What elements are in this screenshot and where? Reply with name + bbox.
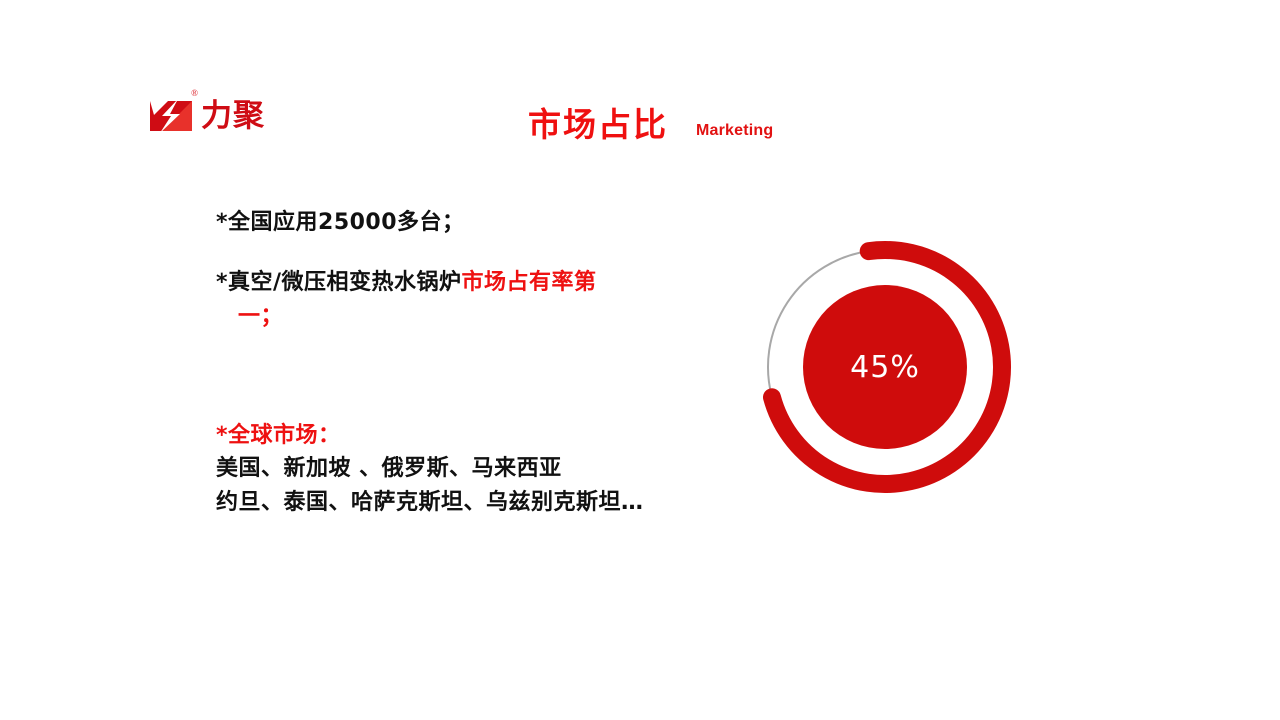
bullet-market-share-highlight: 市场占有率第 — [462, 270, 597, 295]
global-market-line-2: 约旦、泰国、哈萨克斯坦、乌兹别克斯坦… — [216, 486, 776, 520]
market-share-donut-chart: 45% — [750, 232, 1020, 502]
page-title: 市场占比 — [528, 108, 668, 143]
bullet-market-share-wrap: 一； — [216, 300, 283, 334]
registered-trademark-icon: ® — [191, 89, 198, 98]
company-logo: ® 力聚 — [148, 88, 265, 140]
bullet-list: *全国应用25000多台； *真空/微压相变热水锅炉市场占有率第 一； — [216, 206, 736, 334]
donut-hub-circle — [803, 285, 967, 449]
lightning-bolt-icon: ® — [148, 91, 194, 137]
global-market-heading: *全球市场： — [216, 420, 776, 452]
bullet-market-share-prefix: *真空/微压相变热水锅炉 — [216, 270, 462, 295]
logo-wordmark: 力聚 — [201, 101, 265, 132]
slide-canvas: ® 力聚 市场占比 Marketing *全国应用25000多台； *真空/微压… — [0, 0, 1280, 720]
bullet-market-share: *真空/微压相变热水锅炉市场占有率第 一； — [216, 266, 736, 334]
page-subtitle: Marketing — [696, 123, 773, 139]
slide-header: 市场占比 Marketing — [528, 108, 773, 143]
global-market-block: *全球市场： 美国、新加坡 、俄罗斯、马来西亚 约旦、泰国、哈萨克斯坦、乌兹别克… — [216, 420, 776, 520]
bullet-installed-base: *全国应用25000多台； — [216, 206, 736, 240]
global-market-line-1: 美国、新加坡 、俄罗斯、马来西亚 — [216, 452, 776, 486]
